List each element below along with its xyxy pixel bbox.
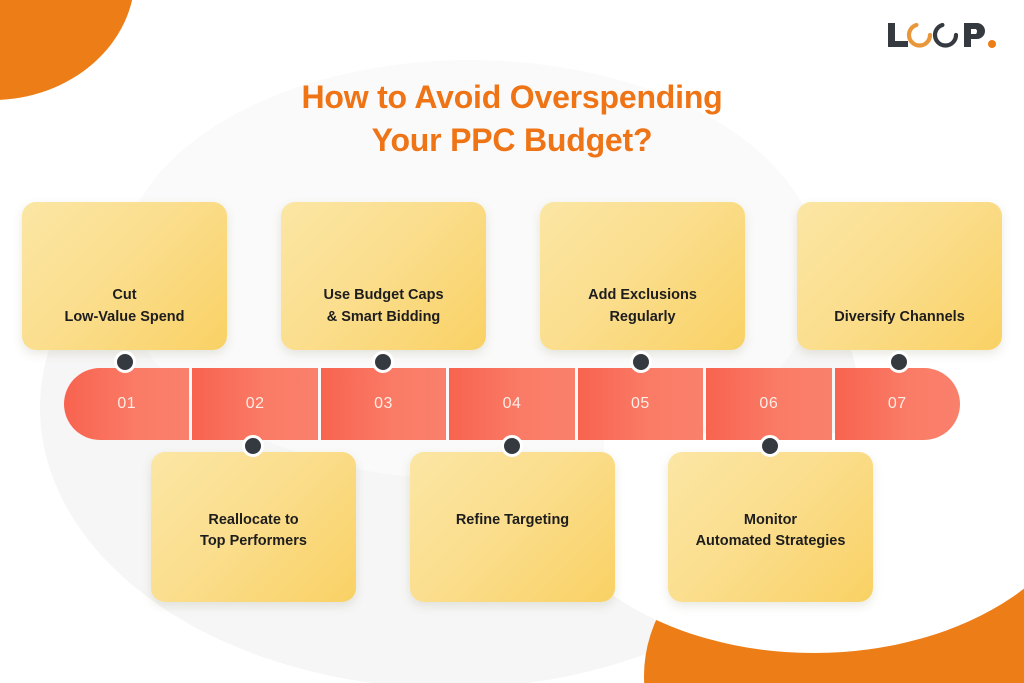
connector-dot-04 xyxy=(501,435,523,457)
step-card-label: Refine Targeting xyxy=(456,510,569,531)
timeline-segment-number: 05 xyxy=(631,395,650,413)
timeline-segment-number: 07 xyxy=(888,395,907,413)
step-card-02[interactable]: Reallocate to Top Performers xyxy=(151,452,356,602)
connector-dot-01 xyxy=(114,351,136,373)
timeline-segment-03[interactable]: 03 xyxy=(321,368,446,440)
step-card-03[interactable]: Use Budget Caps & Smart Bidding xyxy=(281,202,486,350)
timeline-segment-04[interactable]: 04 xyxy=(449,368,574,440)
step-card-07[interactable]: Diversify Channels xyxy=(797,202,1002,350)
step-card-label: Add Exclusions Regularly xyxy=(588,285,697,328)
page-title-line-2: Your PPC Budget? xyxy=(0,119,1024,162)
timeline-segment-07[interactable]: 07 xyxy=(835,368,960,440)
step-card-label: Reallocate to Top Performers xyxy=(200,510,307,553)
connector-dot-03 xyxy=(372,351,394,373)
timeline-segment-02[interactable]: 02 xyxy=(192,368,317,440)
connector-dot-06 xyxy=(759,435,781,457)
timeline-segment-number: 01 xyxy=(117,395,136,413)
step-card-06[interactable]: Monitor Automated Strategies xyxy=(668,452,873,602)
step-card-05[interactable]: Add Exclusions Regularly xyxy=(540,202,745,350)
connector-dot-07 xyxy=(888,351,910,373)
timeline-segment-05[interactable]: 05 xyxy=(578,368,703,440)
page-title-line-1: How to Avoid Overspending xyxy=(0,76,1024,119)
step-card-01[interactable]: Cut Low-Value Spend xyxy=(22,202,227,350)
step-card-label: Use Budget Caps & Smart Bidding xyxy=(323,285,443,328)
loop-logo-icon xyxy=(884,20,1002,54)
step-card-label: Cut Low-Value Spend xyxy=(64,285,184,328)
timeline-segment-number: 04 xyxy=(503,395,522,413)
step-card-label: Monitor Automated Strategies xyxy=(696,510,846,553)
step-card-04[interactable]: Refine Targeting xyxy=(410,452,615,602)
brand-logo[interactable]: LOOP. xyxy=(884,20,1002,54)
infographic-canvas: LOOP. How to Avoid Overspending Your PPC… xyxy=(0,0,1024,683)
timeline-segment-01[interactable]: 01 xyxy=(64,368,189,440)
timeline-segment-number: 03 xyxy=(374,395,393,413)
step-card-label: Diversify Channels xyxy=(834,307,965,328)
timeline-bar: 01 02 03 04 05 06 07 xyxy=(64,368,960,440)
connector-dot-02 xyxy=(242,435,264,457)
connector-dot-05 xyxy=(630,351,652,373)
timeline-segment-06[interactable]: 06 xyxy=(706,368,831,440)
timeline-segment-number: 02 xyxy=(246,395,265,413)
page-title: How to Avoid Overspending Your PPC Budge… xyxy=(0,76,1024,161)
timeline-segment-number: 06 xyxy=(759,395,778,413)
